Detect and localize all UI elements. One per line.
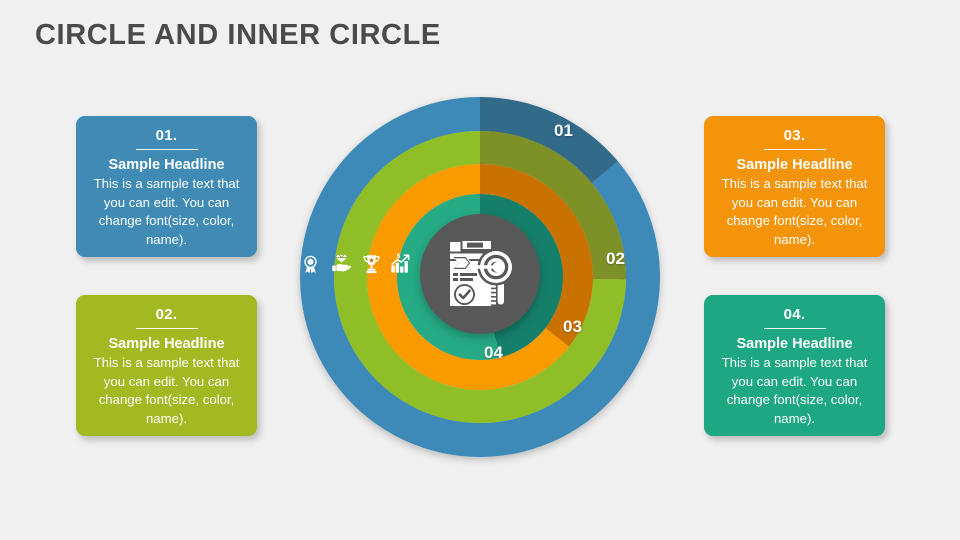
info-card-03[interactable]: 03. Sample Headline This is a sample tex… [704,116,885,257]
card-body: This is a sample text that you can edit.… [87,354,246,428]
card-number: 02. [87,305,246,324]
card-divider [764,328,826,329]
concentric-circle-diagram: 01 02 03 04 $ [285,97,675,457]
document-magnifier-checklist-icon [444,236,518,312]
card-number: 04. [715,305,874,324]
card-headline: Sample Headline [715,156,874,174]
card-body: This is a sample text that you can edit.… [715,354,874,428]
card-number: 03. [715,126,874,145]
card-body: This is a sample text that you can edit.… [87,175,246,249]
card-divider [136,149,198,150]
card-headline: Sample Headline [87,156,246,174]
card-headline: Sample Headline [715,335,874,353]
info-card-02[interactable]: 02. Sample Headline This is a sample tex… [76,295,257,436]
card-body: This is a sample text that you can edit.… [715,175,874,249]
card-number: 01. [87,126,246,145]
info-card-04[interactable]: 04. Sample Headline This is a sample tex… [704,295,885,436]
card-headline: Sample Headline [87,335,246,353]
card-divider [136,328,198,329]
page-title: CIRCLE AND INNER CIRCLE [35,19,441,52]
card-divider [764,149,826,150]
center-badge [420,214,540,334]
info-card-01[interactable]: 01. Sample Headline This is a sample tex… [76,116,257,257]
